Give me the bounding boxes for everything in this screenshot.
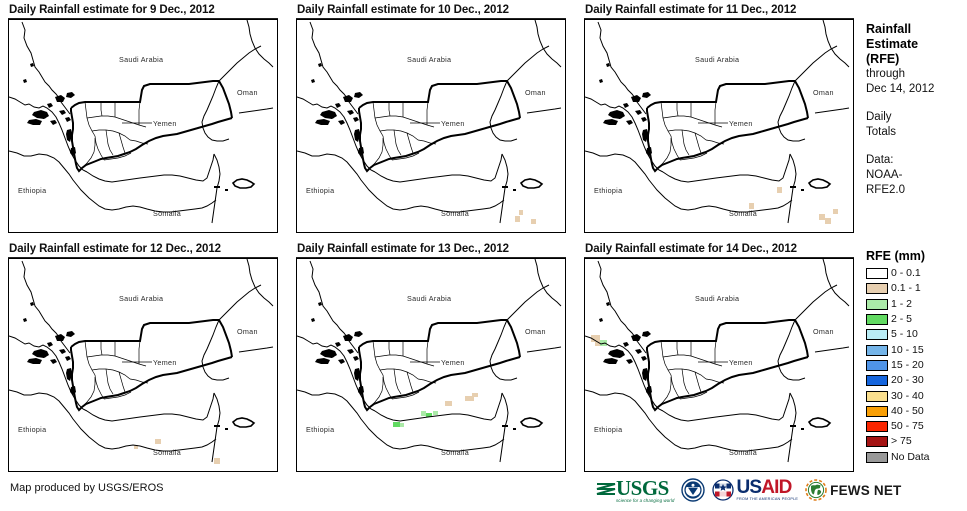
legend-label: 20 - 30 [891,375,924,386]
map-panel-1: Daily Rainfall estimate for 9 Dec., 2012… [8,4,278,233]
legend-swatch [866,345,888,356]
side-spacer-2 [866,140,967,153]
usaid-logo[interactable]: USAID FROM THE AMERICAN PEOPLE [712,479,798,501]
map-canvas-6[interactable]: Saudi Arabia Oman Yemen Ethiopia Somalia [584,258,854,472]
legend-swatch [866,436,888,447]
map-label-ethiopia: Ethiopia [306,186,334,195]
legend-row: 15 - 20 [866,358,967,373]
map-label-saudi-arabia: Saudi Arabia [119,55,163,64]
side-data-line1: Data: [866,153,967,168]
map-label-oman: Oman [237,327,258,336]
rainfall-overlay-5 [393,393,478,427]
map-label-saudi-arabia: Saudi Arabia [407,55,451,64]
noaa-logo[interactable] [681,478,705,502]
panel-title-2: Daily Rainfall estimate for 10 Dec., 201… [296,4,566,17]
side-data-line3: RFE2.0 [866,183,967,198]
map-canvas-3[interactable]: Saudi Arabia Oman Yemen Ethiopia Somalia [584,19,854,233]
rainfall-overlay-6 [591,335,607,346]
legend-swatch [866,452,888,463]
side-data-line2: NOAA- [866,168,967,183]
legend-swatch [866,375,888,386]
legend-label: 2 - 5 [891,314,912,325]
legend-swatch [866,299,888,310]
panel-title-4: Daily Rainfall estimate for 12 Dec., 201… [8,243,278,256]
map-label-saudi-arabia: Saudi Arabia [695,55,739,64]
legend-row: 0 - 0.1 [866,266,967,281]
legend-row: 1 - 2 [866,297,967,312]
map-label-somalia: Somalia [153,448,181,457]
map-label-somalia: Somalia [441,209,469,218]
map-label-ethiopia: Ethiopia [594,425,622,434]
side-totals-line1: Daily [866,110,967,125]
legend-swatch [866,421,888,432]
rainfall-overlay-3 [749,187,838,224]
legend-row: 2 - 5 [866,312,967,327]
map-label-saudi-arabia: Saudi Arabia [119,294,163,303]
legend-row: 0.1 - 1 [866,281,967,296]
usaid-wordmark: USAID [736,479,791,497]
side-title-line2: Estimate [866,37,967,52]
legend-label: 15 - 20 [891,360,924,371]
legend-label: No Data [891,452,930,463]
side-spacer-1 [866,97,967,110]
logo-bar: USGS science for a changing world USAID … [596,474,909,506]
side-through-label: through [866,67,967,82]
legend-label: 50 - 75 [891,421,924,432]
legend-label: 5 - 10 [891,329,918,340]
legend-label: 10 - 15 [891,345,924,356]
map-label-yemen: Yemen [441,358,465,367]
map-canvas-1[interactable]: Saudi Arabia Oman Yemen Ethiopia Somalia [8,19,278,233]
fews-net-logo[interactable]: FEWS NET [805,479,901,501]
map-label-oman: Oman [525,327,546,336]
legend-row: > 75 [866,434,967,449]
legend-label: > 75 [891,436,912,447]
fews-wordmark: FEWS NET [830,483,901,498]
legend-row: 20 - 30 [866,373,967,388]
map-label-yemen: Yemen [441,119,465,128]
legend-swatch [866,329,888,340]
usgs-logo[interactable]: USGS science for a changing world [596,478,674,503]
legend-swatch [866,406,888,417]
legend-rows: 0 - 0.10.1 - 11 - 22 - 55 - 1010 - 1515 … [866,266,967,465]
legend-row: No Data [866,450,967,465]
legend-row: 5 - 10 [866,327,967,342]
map-label-saudi-arabia: Saudi Arabia [407,294,451,303]
map-canvas-2[interactable]: Saudi Arabia Oman Yemen Ethiopia Somalia [296,19,566,233]
side-totals-line2: Totals [866,125,967,140]
rfe-legend: RFE (mm) 0 - 0.10.1 - 11 - 22 - 55 - 101… [866,249,967,465]
legend-swatch [866,314,888,325]
legend-label: 30 - 40 [891,391,924,402]
noaa-seal-icon [681,478,705,502]
legend-swatch [866,283,888,294]
map-label-saudi-arabia: Saudi Arabia [695,294,739,303]
map-label-yemen: Yemen [153,119,177,128]
map-label-ethiopia: Ethiopia [18,425,46,434]
usaid-seal-icon [712,479,734,501]
legend-swatch [866,268,888,279]
panel-title-1: Daily Rainfall estimate for 9 Dec., 2012 [8,4,278,17]
map-label-somalia: Somalia [441,448,469,457]
map-label-ethiopia: Ethiopia [594,186,622,195]
map-label-yemen: Yemen [729,119,753,128]
rainfall-overlay-2 [515,210,536,224]
legend-label: 0.1 - 1 [891,283,921,294]
side-title-line1: Rainfall [866,22,967,37]
map-label-yemen: Yemen [729,358,753,367]
map-panel-6: Daily Rainfall estimate for 14 Dec., 201… [584,243,854,472]
side-title-line3: (RFE) [866,52,967,67]
map-label-somalia: Somalia [729,209,757,218]
map-canvas-4[interactable]: Saudi Arabia Oman Yemen Ethiopia Somalia [8,258,278,472]
map-label-somalia: Somalia [729,448,757,457]
map-label-yemen: Yemen [153,358,177,367]
legend-row: 30 - 40 [866,388,967,403]
map-panel-3: Daily Rainfall estimate for 11 Dec., 201… [584,4,854,233]
map-panel-5: Daily Rainfall estimate for 13 Dec., 201… [296,243,566,472]
legend-swatch [866,360,888,371]
map-label-ethiopia: Ethiopia [18,186,46,195]
legend-label: 40 - 50 [891,406,924,417]
usaid-tagline: FROM THE AMERICAN PEOPLE [736,497,798,501]
legend-title: RFE (mm) [866,249,967,263]
map-label-oman: Oman [525,88,546,97]
legend-row: 40 - 50 [866,404,967,419]
fews-globe-icon [805,479,827,501]
side-through-date: Dec 14, 2012 [866,82,967,97]
panel-title-6: Daily Rainfall estimate for 14 Dec., 201… [584,243,854,256]
map-label-somalia: Somalia [153,209,181,218]
legend-swatch [866,391,888,402]
map-label-ethiopia: Ethiopia [306,425,334,434]
map-label-oman: Oman [813,88,834,97]
legend-row: 50 - 75 [866,419,967,434]
map-label-oman: Oman [813,327,834,336]
map-panel-4: Daily Rainfall estimate for 12 Dec., 201… [8,243,278,472]
panel-title-3: Daily Rainfall estimate for 11 Dec., 201… [584,4,854,17]
map-label-oman: Oman [237,88,258,97]
map-credit: Map produced by USGS/EROS [10,482,163,494]
map-panel-2: Daily Rainfall estimate for 10 Dec., 201… [296,4,566,233]
usgs-mark-icon [596,480,616,500]
usgs-tagline: science for a changing world [616,498,674,503]
side-info-block: Rainfall Estimate (RFE) through Dec 14, … [866,22,967,198]
map-canvas-5[interactable]: Saudi Arabia Oman Yemen Ethiopia Somalia [296,258,566,472]
legend-row: 10 - 15 [866,342,967,357]
panel-title-5: Daily Rainfall estimate for 13 Dec., 201… [296,243,566,256]
usgs-wordmark: USGS [616,478,674,498]
legend-label: 1 - 2 [891,299,912,310]
legend-label: 0 - 0.1 [891,268,921,279]
